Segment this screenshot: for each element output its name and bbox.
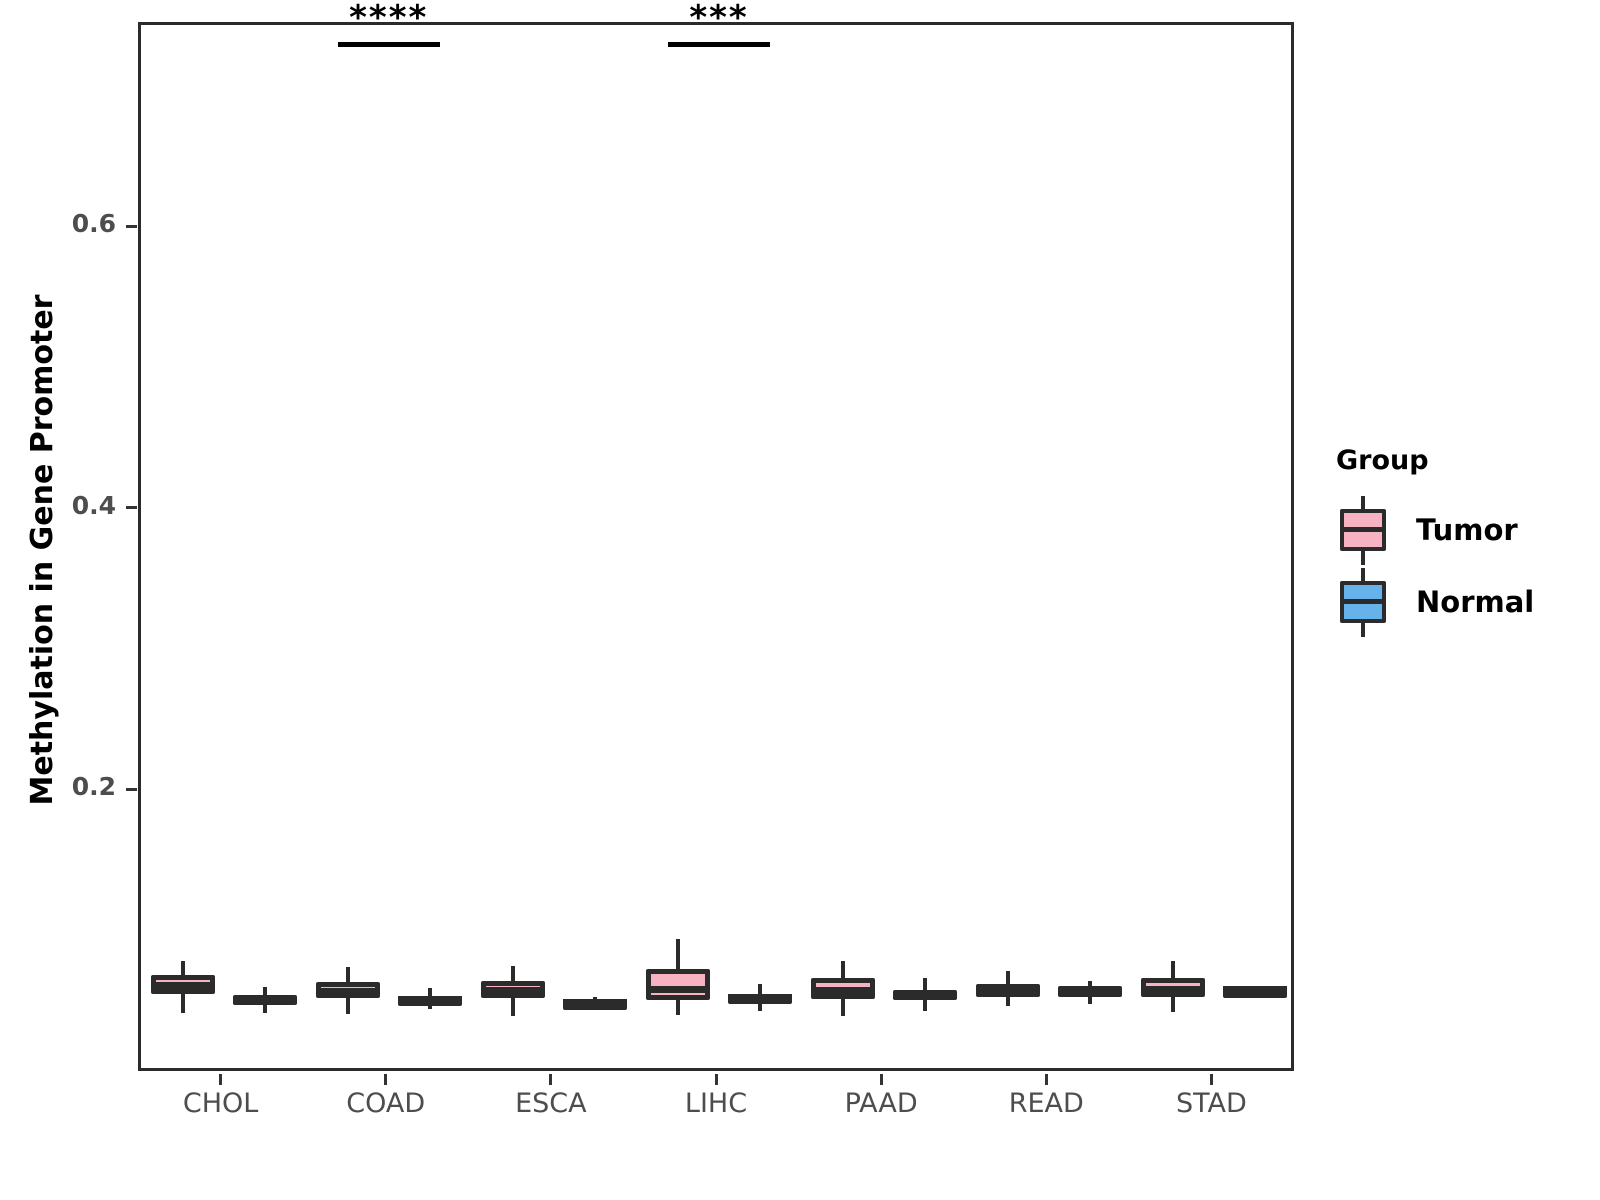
legend-item-tumor[interactable]: Tumor	[1336, 494, 1586, 566]
boxplot-paad-tumor	[811, 25, 875, 1074]
significance-stars-lihc: ***	[689, 0, 748, 38]
whisker-upper	[923, 978, 927, 989]
median-line	[976, 987, 1040, 994]
legend-key-tumor	[1336, 494, 1390, 566]
whisker-lower	[346, 998, 350, 1014]
legend: Group TumorNormal	[1336, 445, 1586, 638]
x-axis-tick-mark	[549, 1074, 552, 1085]
whisker-lower	[841, 999, 845, 1016]
median-line	[1141, 986, 1205, 993]
significance-bracket-coad	[338, 42, 440, 47]
x-axis-tick-mark	[219, 1074, 222, 1085]
whisker-upper	[841, 961, 845, 978]
legend-label-normal: Normal	[1416, 585, 1534, 619]
median-line	[1058, 988, 1122, 995]
boxplot-paad-normal	[893, 25, 957, 1074]
median-line	[728, 994, 792, 1001]
median-line	[563, 999, 627, 1006]
boxplot-stad-tumor	[1141, 25, 1205, 1074]
median-line	[893, 992, 957, 999]
x-axis-tick-mark	[1210, 1074, 1213, 1085]
median-line	[646, 986, 710, 993]
boxplot-chol-normal	[233, 25, 297, 1074]
y-axis-tick-label: 0.4	[72, 491, 116, 520]
plot-panel: *******	[138, 22, 1294, 1071]
significance-bracket-lihc	[668, 42, 770, 47]
y-axis-tick-label: 0.2	[72, 772, 116, 801]
median-line	[1223, 986, 1287, 993]
whisker-upper	[346, 967, 350, 982]
boxplot-read-tumor	[976, 25, 1040, 1074]
whisker-lower	[263, 1005, 267, 1013]
x-axis-tick-label-read: READ	[1009, 1088, 1084, 1119]
y-axis-tick-mark	[126, 788, 137, 791]
whisker-upper	[181, 961, 185, 975]
whisker-lower	[923, 1000, 927, 1011]
x-axis-tick-label-chol: CHOL	[183, 1088, 258, 1119]
whisker-lower	[1006, 997, 1010, 1007]
chart-root: Methylation in Gene Promoter 0.20.40.6 *…	[0, 0, 1600, 1200]
significance-stars-coad: ****	[349, 0, 428, 38]
boxplot-coad-normal	[398, 25, 462, 1074]
median-line	[398, 996, 462, 1003]
whisker-lower	[511, 998, 515, 1016]
legend-whisker-lower	[1361, 622, 1365, 637]
boxplot-esca-normal	[563, 25, 627, 1074]
x-axis-tick-mark	[880, 1074, 883, 1085]
median-line	[811, 987, 875, 994]
whisker-upper	[428, 988, 432, 996]
median-line	[481, 987, 545, 994]
whisker-upper	[676, 939, 680, 969]
whisker-upper	[263, 987, 267, 995]
whisker-upper	[758, 984, 762, 994]
y-axis-title: Methylation in Gene Promoter	[14, 10, 70, 1090]
whisker-lower	[1088, 997, 1092, 1004]
legend-key-normal	[1336, 566, 1390, 638]
whisker-upper	[511, 966, 515, 981]
x-axis-tick-label-stad: STAD	[1176, 1088, 1247, 1119]
boxplot-stad-normal	[1223, 25, 1287, 1074]
boxplot-lihc-tumor	[646, 25, 710, 1074]
y-axis-tick-label: 0.6	[72, 209, 116, 238]
median-line	[316, 988, 380, 995]
y-axis-tick-mark	[126, 506, 137, 509]
whisker-lower	[181, 994, 185, 1013]
x-axis-tick-mark	[715, 1074, 718, 1085]
legend-title: Group	[1336, 445, 1586, 476]
x-axis-tick-mark	[1045, 1074, 1048, 1085]
legend-whisker-lower	[1361, 550, 1365, 565]
boxplot-esca-tumor	[481, 25, 545, 1074]
whisker-upper	[1006, 971, 1010, 984]
legend-median-line	[1340, 599, 1386, 604]
legend-item-normal[interactable]: Normal	[1336, 566, 1586, 638]
median-line	[233, 997, 297, 1004]
x-axis-tick-label-esca: ESCA	[515, 1088, 587, 1119]
legend-items: TumorNormal	[1336, 494, 1586, 638]
x-axis-tick-label-coad: COAD	[346, 1088, 425, 1119]
box-iqr	[646, 969, 710, 1000]
boxplot-read-normal	[1058, 25, 1122, 1074]
whisker-upper	[1171, 961, 1175, 979]
boxplot-coad-tumor	[316, 25, 380, 1074]
whisker-lower	[1171, 997, 1175, 1012]
whisker-lower	[676, 1000, 680, 1015]
boxplot-chol-tumor	[151, 25, 215, 1074]
median-line	[151, 982, 215, 989]
x-axis-tick-mark	[384, 1074, 387, 1085]
legend-median-line	[1340, 527, 1386, 532]
boxplot-lihc-normal	[728, 25, 792, 1074]
legend-label-tumor: Tumor	[1416, 513, 1518, 547]
x-axis-tick-label-paad: PAAD	[845, 1088, 918, 1119]
x-axis-tick-label-lihc: LIHC	[685, 1088, 747, 1119]
y-axis-tick-mark	[126, 225, 137, 228]
